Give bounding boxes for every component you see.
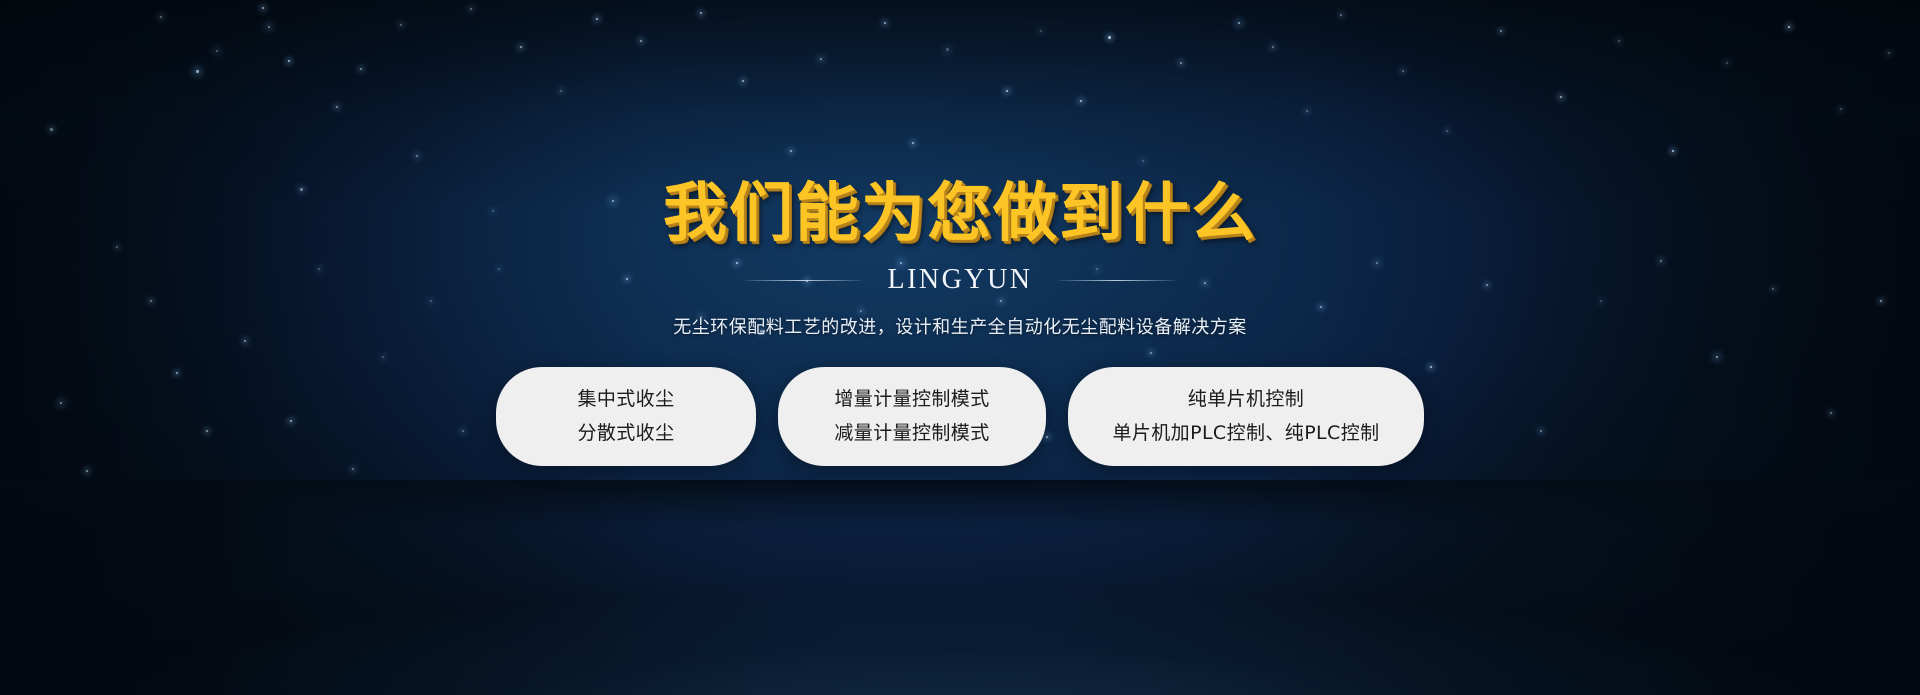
card-line: 单片机加PLC控制、纯PLC控制 — [1112, 423, 1379, 444]
feature-card-dust-collection[interactable]: 集中式收尘 分散式收尘 — [496, 367, 756, 466]
card-line: 分散式收尘 — [577, 423, 674, 444]
brand-name: LINGYUN — [887, 264, 1032, 296]
feature-card-metering-control-mode[interactable]: 增量计量控制模式 减量计量控制模式 — [778, 367, 1046, 466]
feature-card-list: 集中式收尘 分散式收尘 增量计量控制模式 减量计量控制模式 纯单片机控制 单片机… — [496, 367, 1424, 466]
card-line: 纯单片机控制 — [1188, 389, 1304, 410]
card-line: 增量计量控制模式 — [834, 389, 989, 410]
tagline: 无尘环保配料工艺的改进，设计和生产全自动化无尘配料设备解决方案 — [673, 313, 1247, 339]
feature-card-controller-type[interactable]: 纯单片机控制 单片机加PLC控制、纯PLC控制 — [1068, 367, 1424, 466]
left-rule-icon — [745, 280, 861, 281]
card-line: 集中式收尘 — [577, 389, 674, 410]
hero-banner: 我们能为您做到什么 LINGYUN 无尘环保配料工艺的改进，设计和生产全自动化无… — [0, 0, 1920, 695]
banner-content: 我们能为您做到什么 LINGYUN 无尘环保配料工艺的改进，设计和生产全自动化无… — [0, 0, 1920, 695]
brand-row: LINGYUN — [745, 264, 1174, 296]
card-line: 减量计量控制模式 — [834, 423, 989, 444]
right-rule-icon — [1059, 280, 1175, 281]
page-title: 我们能为您做到什么 — [663, 182, 1257, 246]
